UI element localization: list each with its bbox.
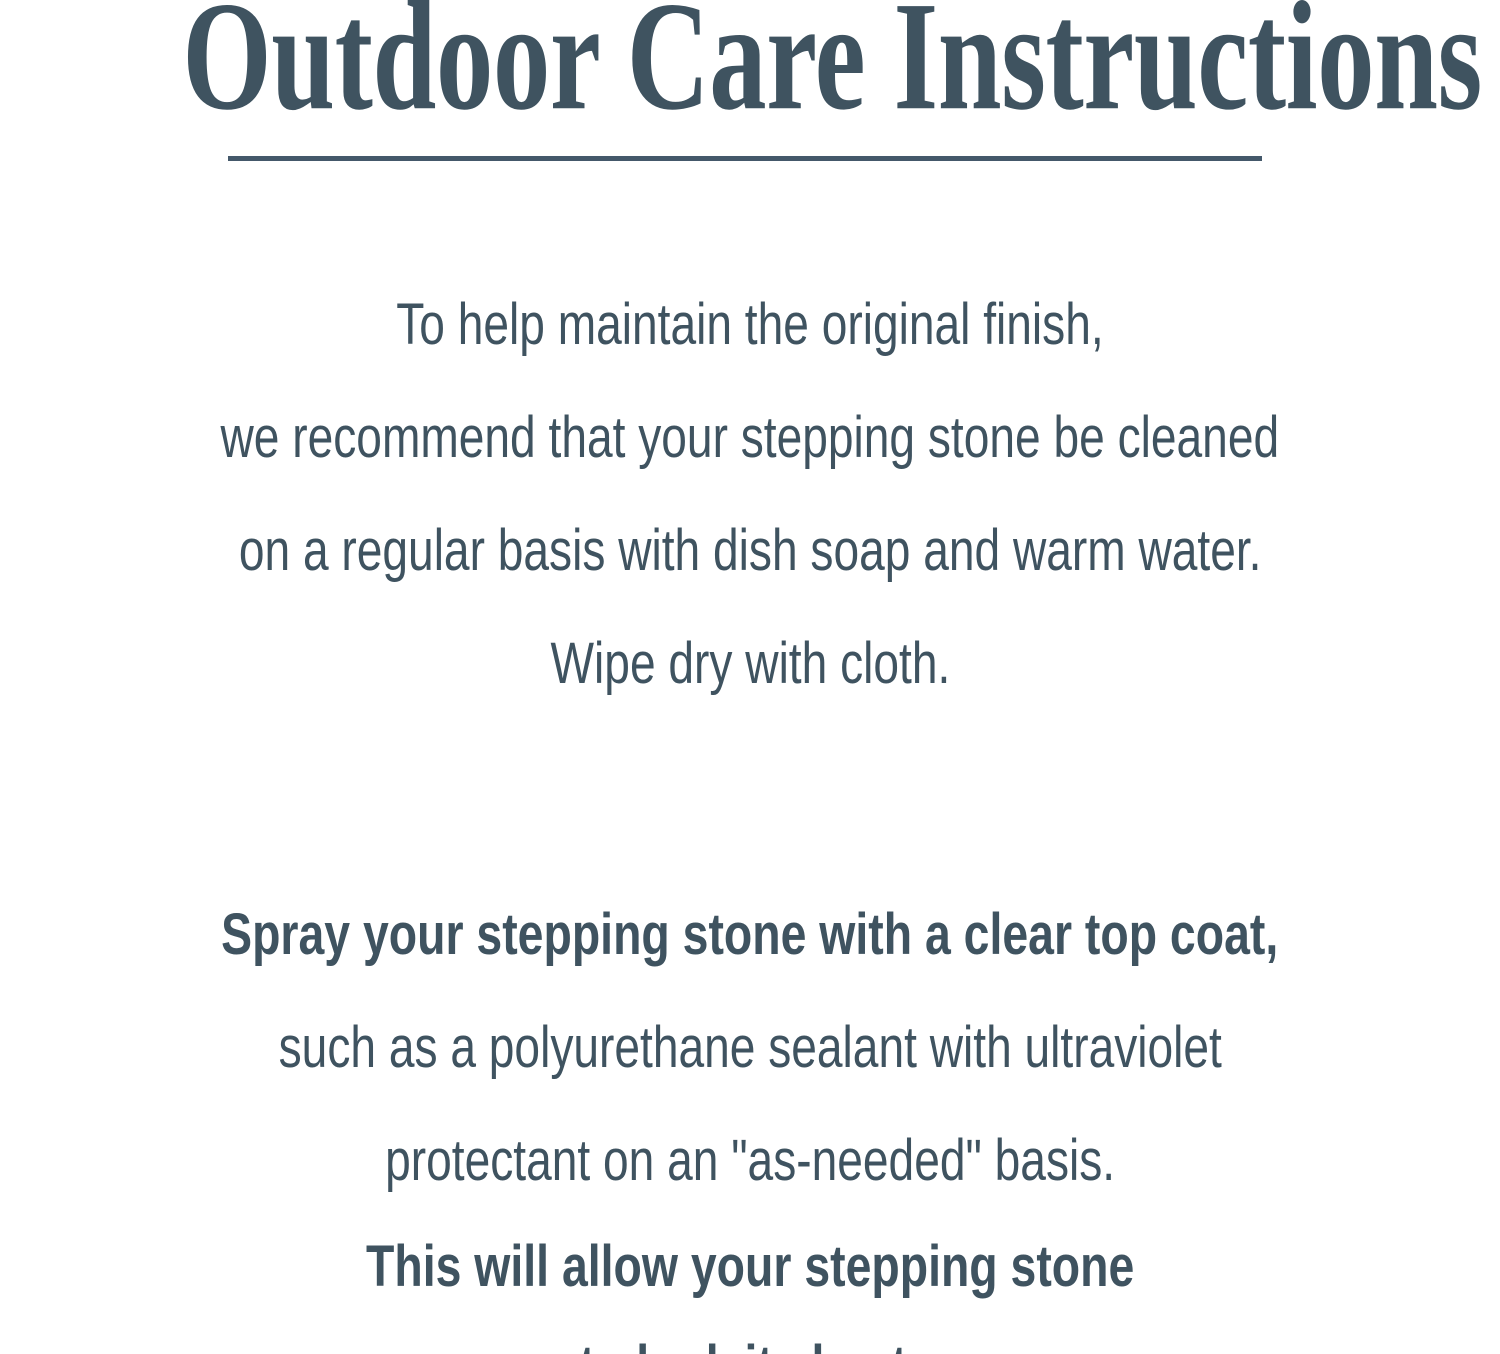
instruction-line: protectant on an "as-needed" basis. [0, 1104, 1500, 1217]
instruction-line-emphasis: Spray your stepping stone with a clear t… [0, 878, 1500, 991]
paragraph-sealant-instructions: Spray your stepping stone with a clear t… [0, 878, 1500, 1354]
instruction-line: we recommend that your stepping stone be… [0, 381, 1500, 494]
instruction-line-text: protectant on an "as-needed" basis. [385, 1104, 1115, 1217]
instruction-line: Wipe dry with cloth. [0, 607, 1500, 720]
instruction-line: such as a polyurethane sealant with ultr… [0, 991, 1500, 1104]
instruction-line: on a regular basis with dish soap and wa… [0, 494, 1500, 607]
instruction-line-text: This will allow your stepping stone [366, 1217, 1134, 1317]
instructions-body: To help maintain the original finish, we… [0, 268, 1500, 1354]
page-title: Outdoor Care Instructions [182, 0, 1317, 134]
instruction-line-text: to look its best. [580, 1317, 920, 1354]
instruction-line-emphasis: to look its best. [0, 1317, 1500, 1354]
instruction-line-text: such as a polyurethane sealant with ultr… [278, 991, 1221, 1104]
paragraph-cleaning-instructions: To help maintain the original finish, we… [0, 268, 1500, 720]
instruction-line-emphasis: This will allow your stepping stone [0, 1217, 1500, 1317]
instruction-line-text: Spray your stepping stone with a clear t… [221, 878, 1278, 991]
care-instructions-page: Outdoor Care Instructions To help mainta… [0, 0, 1500, 1354]
instruction-line-text: Wipe dry with cloth. [550, 607, 950, 720]
page-title-container: Outdoor Care Instructions [0, 0, 1500, 142]
instruction-line-text: we recommend that your stepping stone be… [221, 381, 1280, 494]
instruction-line: To help maintain the original finish, [0, 268, 1500, 381]
instruction-line-text: on a regular basis with dish soap and wa… [239, 494, 1262, 607]
instruction-line-text: To help maintain the original finish, [396, 268, 1103, 381]
title-divider-rule [228, 156, 1262, 161]
